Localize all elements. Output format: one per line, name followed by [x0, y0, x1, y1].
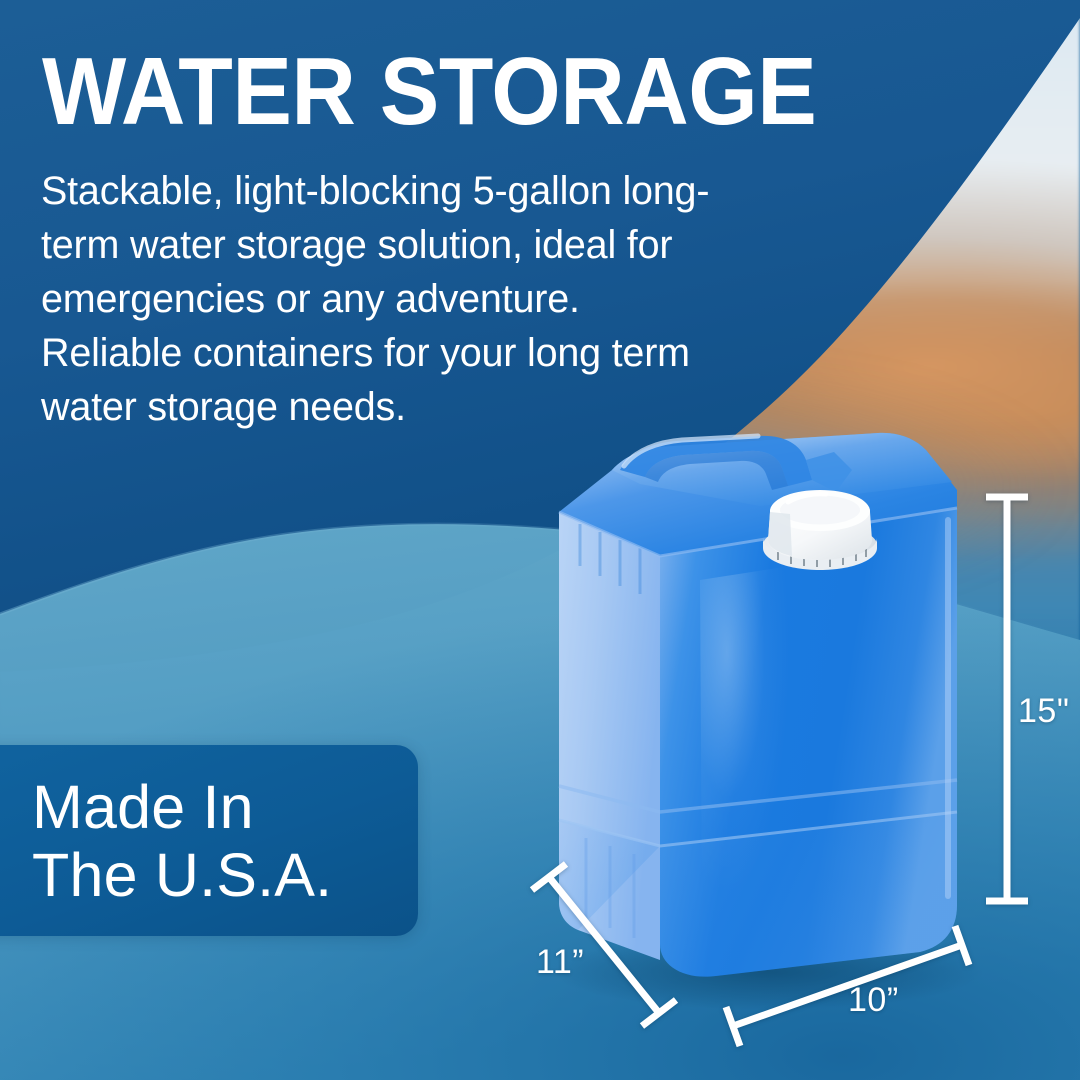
made-in-usa-text: Made In The U.S.A.	[32, 773, 332, 910]
dimension-label-depth: 11”	[536, 943, 584, 982]
made-in-usa-line1: Made In	[32, 773, 332, 841]
product-graphic-canvas: WATER STORAGE Stackable, light-blocking …	[0, 0, 1080, 1080]
made-in-usa-line2: The U.S.A.	[32, 841, 332, 909]
dimension-label-height: 15"	[1018, 692, 1069, 731]
dimension-label-width: 10”	[848, 981, 899, 1020]
made-in-usa-badge: Made In The U.S.A.	[0, 745, 418, 936]
